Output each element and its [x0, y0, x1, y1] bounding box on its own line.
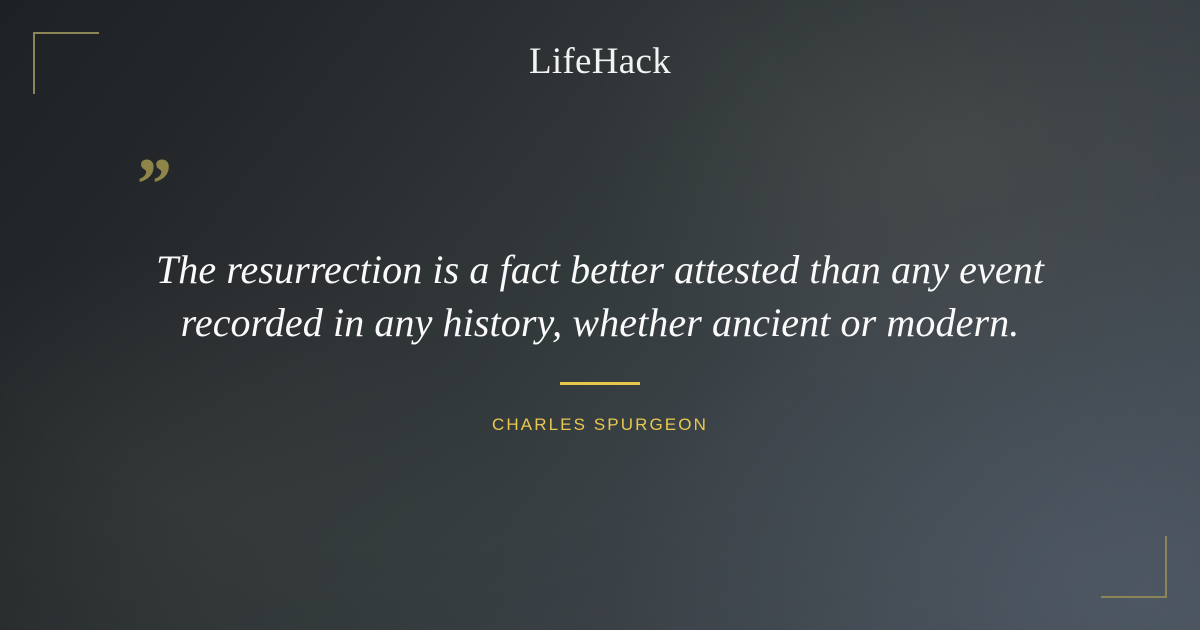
quote-line-2: recorded in any history, whether ancient… — [181, 300, 1020, 345]
gold-divider — [560, 382, 640, 385]
quote-text: The resurrection is a fact better attest… — [100, 243, 1100, 349]
quote-line-1: The resurrection is a fact better attest… — [156, 247, 1044, 292]
quote-block: ” The resurrection is a fact better atte… — [0, 0, 1200, 630]
quote-card: LifeHack ” The resurrection is a fact be… — [0, 0, 1200, 630]
quotation-mark-icon: ” — [133, 148, 168, 222]
quote-author: CHARLES SPURGEON — [0, 414, 1200, 436]
